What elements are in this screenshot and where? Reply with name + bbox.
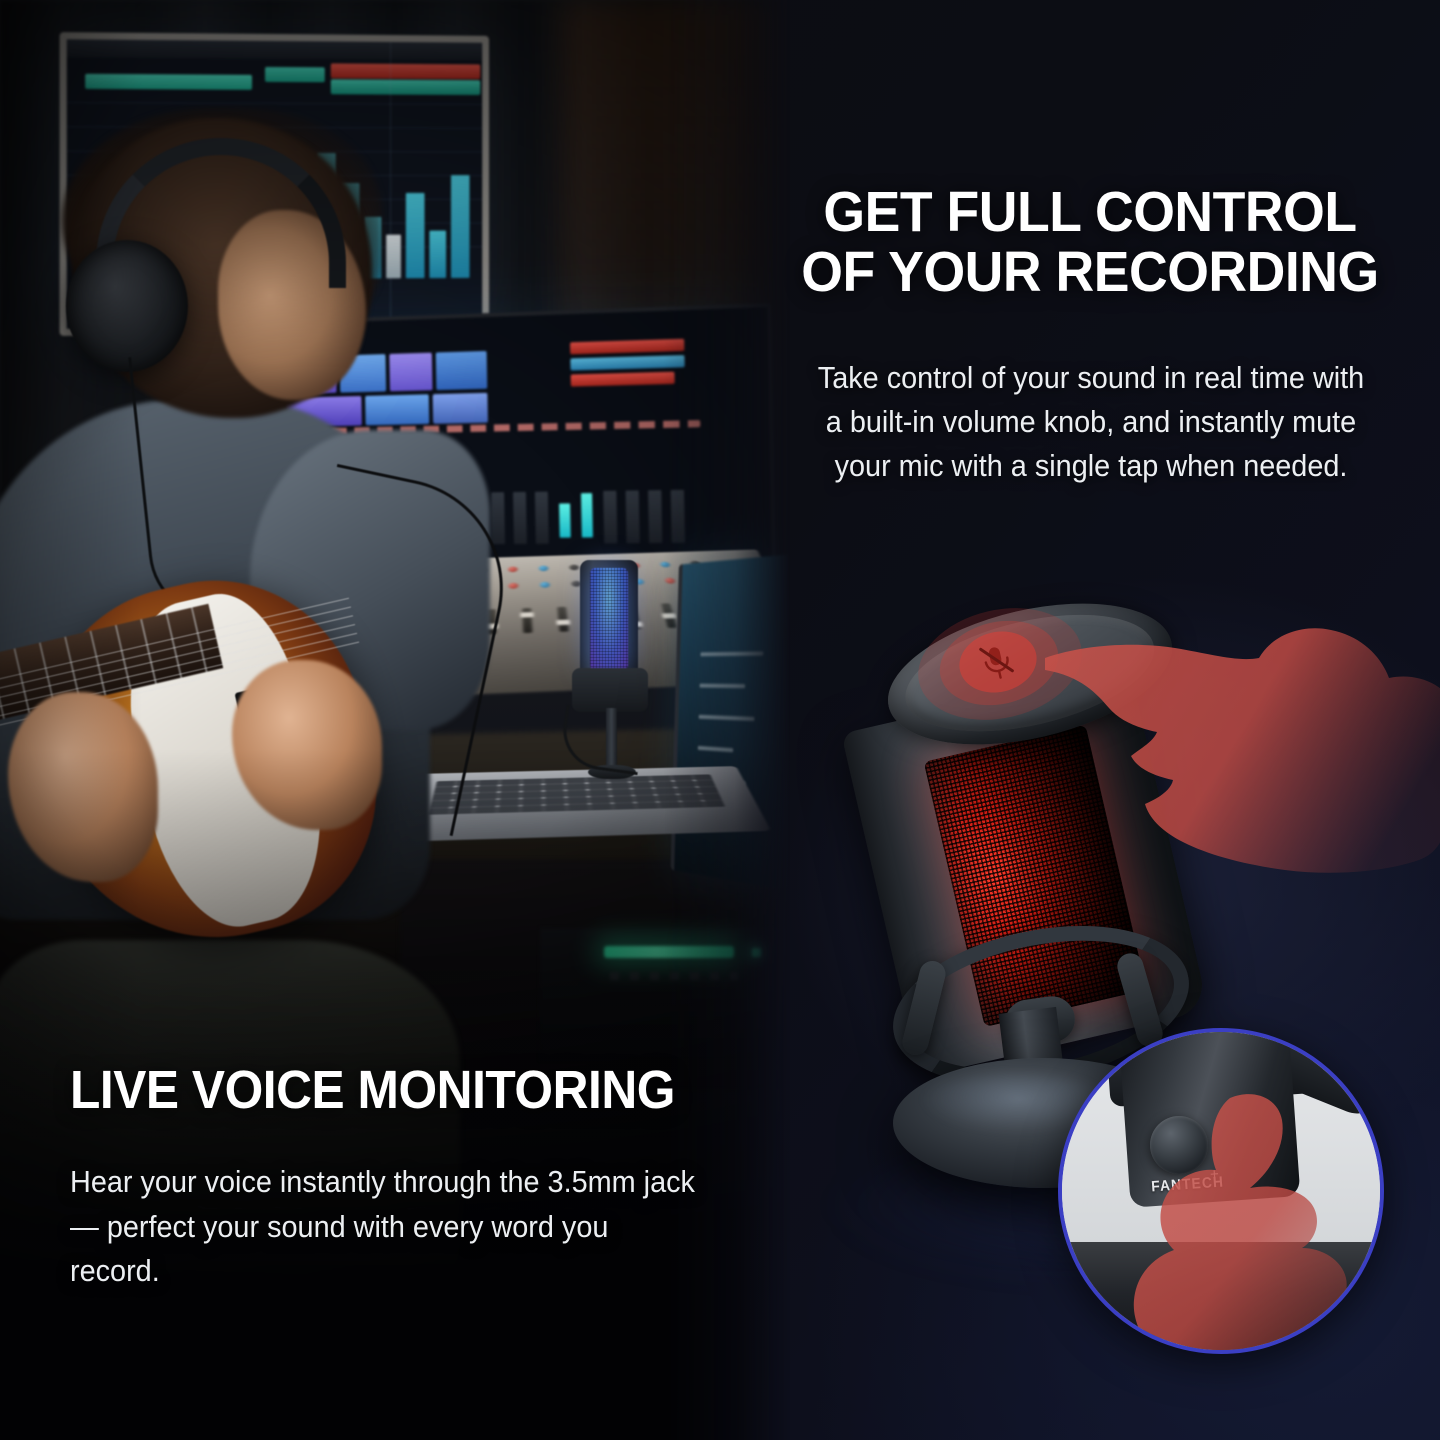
poster-canvas: FANTECH + GET FULL CONTROL OF YOUR RECOR… xyxy=(0,0,1440,1440)
volume-knob-inset: FANTECH + xyxy=(1058,1028,1384,1354)
body-bottom-left: Hear your voice instantly through the 3.… xyxy=(70,1160,702,1294)
body-top-right: Take control of your sound in real time … xyxy=(807,356,1374,488)
knob-turning-hand-overlay xyxy=(1122,1092,1384,1354)
headline-bottom-left: LIVE VOICE MONITORING xyxy=(70,1062,751,1119)
headline-top-right-line2: OF YOUR RECORDING xyxy=(780,242,1400,302)
pointing-hand-overlay xyxy=(1045,622,1440,892)
headline-top-right-line1: GET FULL CONTROL xyxy=(780,182,1400,242)
headline-top-right: GET FULL CONTROL OF YOUR RECORDING xyxy=(780,182,1400,303)
